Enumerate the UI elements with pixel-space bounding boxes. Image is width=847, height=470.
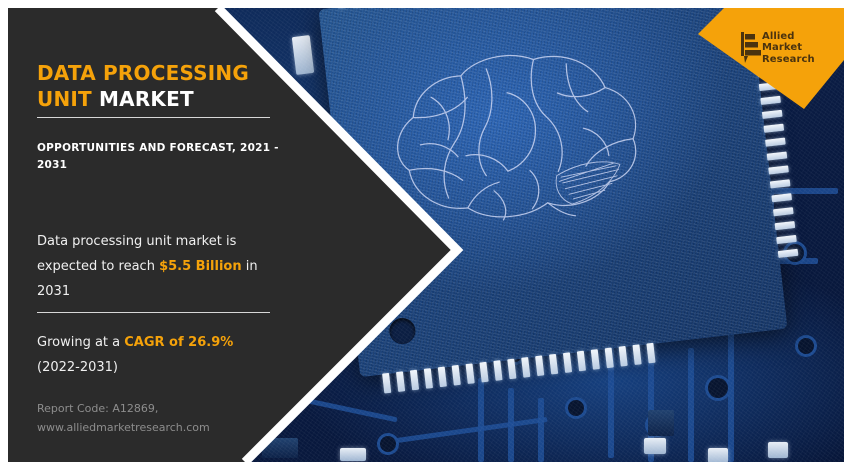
page-title: DATA PROCESSING UNIT MARKET <box>37 60 277 112</box>
stat-cagr-prefix: Growing at a <box>37 335 124 350</box>
stat-market-size: Data processing unit market is expected … <box>37 229 277 304</box>
stat-cagr: Growing at a CAGR of 26.9% (2022-2031) <box>37 330 277 380</box>
title-line1: DATA PROCESSING <box>37 61 249 85</box>
stat-cagr-suffix: (2022-2031) <box>37 360 118 375</box>
footer-website: www.alliedmarketresearch.com <box>37 421 210 434</box>
title-line2-rest: MARKET <box>92 87 194 111</box>
footer-report-code: Report Code: A12869, <box>37 402 158 415</box>
divider-top <box>37 117 270 118</box>
footer-meta: Report Code: A12869, www.alliedmarketres… <box>37 399 267 437</box>
stat-cagr-value: CAGR of 26.9% <box>124 335 233 350</box>
stat-market-size-value: $5.5 Billion <box>159 259 242 274</box>
logo-line-2: Market <box>762 42 815 54</box>
title-line2-highlight: UNIT <box>37 87 92 111</box>
logo-line-3: Research <box>762 54 815 66</box>
market-report-banner: DATA PROCESSING UNIT MARKET OPPORTUNITIE… <box>0 0 847 470</box>
logo-line-1: Allied <box>762 31 815 43</box>
subtitle: OPPORTUNITIES AND FORECAST, 2021 - 2031 <box>37 140 281 174</box>
speech-bubble-bars-icon <box>740 31 762 65</box>
divider-bottom <box>37 312 270 313</box>
allied-market-research-logo[interactable]: Allied Market Research <box>740 27 840 69</box>
